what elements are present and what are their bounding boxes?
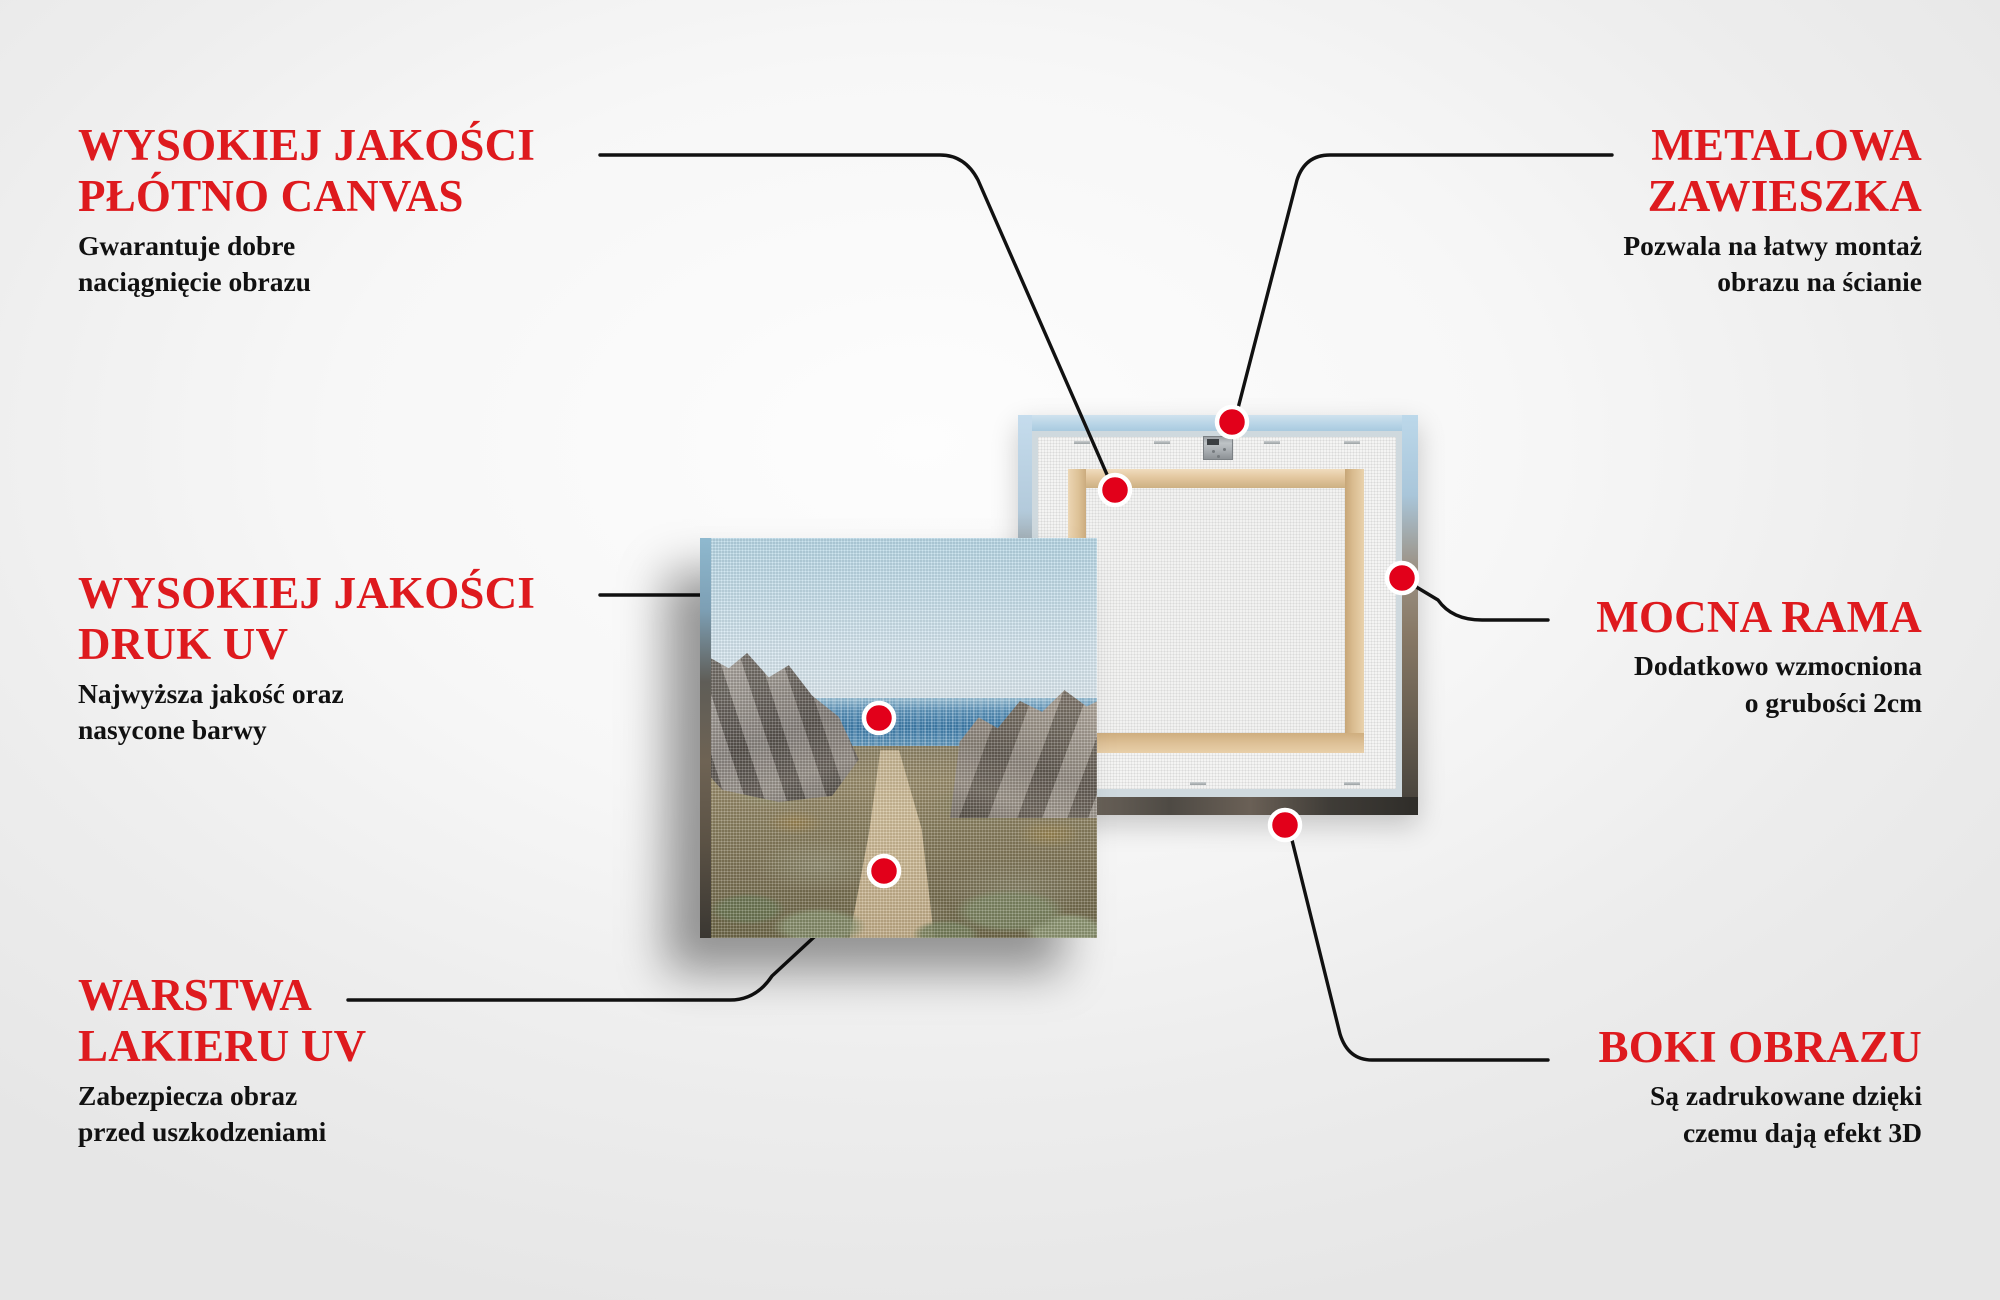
marker-dot-canvas-quality[interactable] (1100, 475, 1130, 505)
marker-dot-metal-hanger[interactable] (1217, 407, 1247, 437)
marker-dot-strong-frame[interactable] (1387, 563, 1417, 593)
marker-dots (0, 0, 2000, 1300)
marker-dot-image-sides[interactable] (1270, 810, 1300, 840)
marker-dot-uv-lacquer[interactable] (869, 856, 899, 886)
marker-dot-uv-print[interactable] (864, 703, 894, 733)
infographic-stage: WYSOKIEJ JAKOŚCI PŁÓTNO CANVAS Gwarantuj… (0, 0, 2000, 1300)
